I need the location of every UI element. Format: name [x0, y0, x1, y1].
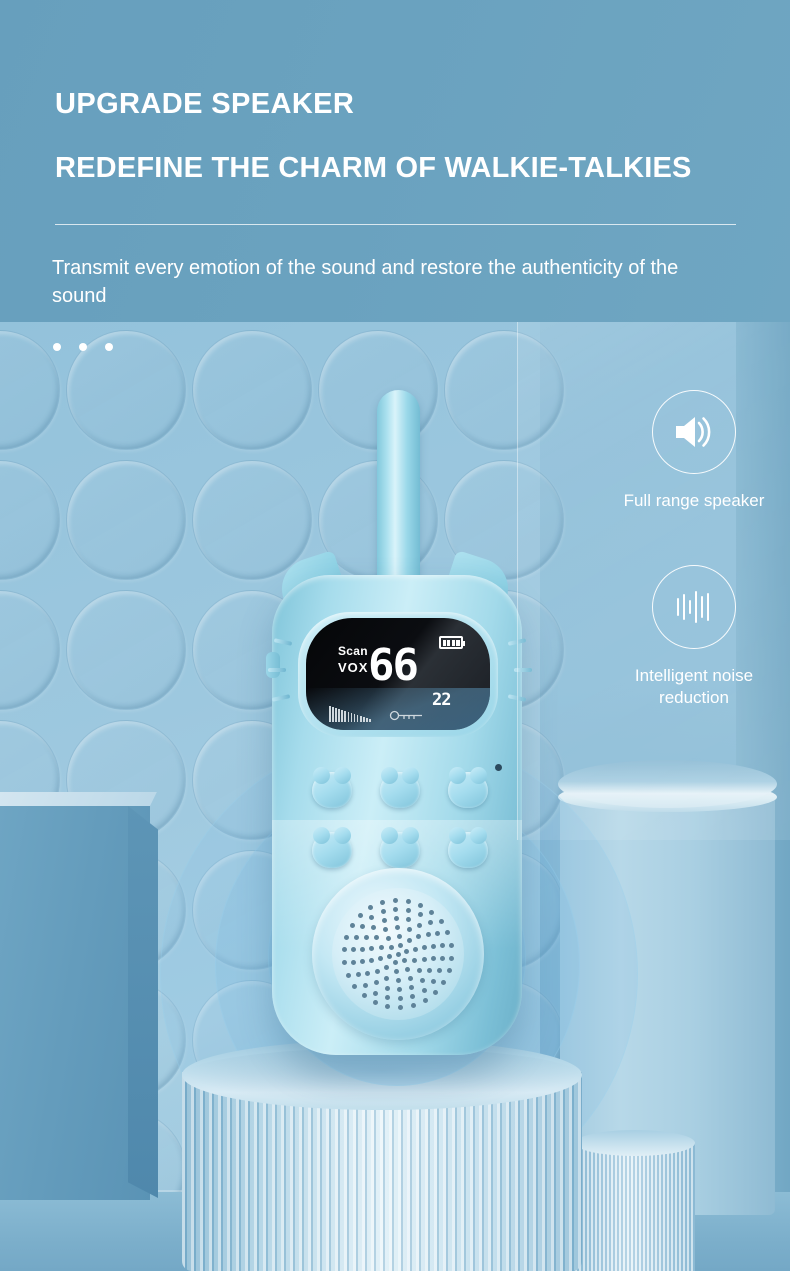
speaker-hole: [352, 984, 357, 989]
speaker-hole: [373, 1000, 378, 1005]
battery-icon: [439, 636, 463, 649]
signal-bar: [363, 717, 365, 722]
signal-bar: [354, 714, 356, 722]
page-title-secondary: REDEFINE THE CHARM OF WALKIE-TALKIES: [55, 152, 692, 185]
speaker-hole: [422, 957, 427, 962]
speaker-hole: [360, 947, 365, 952]
speaker-hole: [398, 1005, 403, 1010]
speaker-hole: [379, 945, 384, 950]
signal-bar: [335, 708, 337, 722]
speaker-hole: [427, 968, 432, 973]
speaker-hole: [385, 986, 390, 991]
speaker-hole: [385, 1004, 390, 1009]
speaker-hole: [383, 927, 388, 932]
speaker-hole: [395, 925, 400, 930]
header-divider: [55, 224, 736, 225]
speaker-hole: [420, 978, 425, 983]
speaker-hole: [407, 938, 412, 943]
feature-label: Intelligent noise reduction: [569, 665, 790, 709]
speaker-hole: [351, 947, 356, 952]
speaker-hole: [445, 930, 450, 935]
signal-bar: [341, 710, 343, 722]
speaker-hole: [393, 907, 398, 912]
decor-dots: [53, 343, 113, 351]
speaker-hole: [342, 947, 347, 952]
speaker-volume-icon: [672, 412, 716, 452]
speaker-hole: [378, 956, 383, 961]
battery-bar: [456, 640, 459, 646]
product-banner: Scan VOX 66 22: [0, 0, 790, 1271]
speaker-hole: [382, 918, 387, 923]
speaker-hole: [384, 976, 389, 981]
wall-circle: [0, 460, 60, 580]
speaker-hole: [380, 900, 385, 905]
speaker-hole: [431, 956, 436, 961]
speaker-hole: [396, 952, 401, 957]
speaker-hole: [428, 920, 433, 925]
speaker-hole: [433, 990, 438, 995]
speaker-hole: [447, 968, 452, 973]
speaker-hole: [402, 958, 407, 963]
speaker-hole: [396, 978, 401, 983]
speaker-hole: [384, 965, 389, 970]
speaker-hole: [373, 991, 378, 996]
speaker-hole: [351, 960, 356, 965]
speaker-hole: [418, 912, 423, 917]
speaker-hole: [437, 968, 442, 973]
lcd-vox-label: VOX: [338, 660, 368, 675]
speaker-hole: [369, 958, 374, 963]
speaker-hole: [449, 956, 454, 961]
speaker-hole: [439, 919, 444, 924]
speaker-hole: [407, 927, 412, 932]
signal-bar: [357, 715, 359, 722]
speaker-hole: [417, 968, 422, 973]
flower-button-2[interactable]: [380, 772, 420, 808]
speaker-hole: [369, 946, 374, 951]
small-pedestal-top: [575, 1130, 695, 1156]
speaker-hole: [440, 943, 445, 948]
button-row-top: [312, 772, 488, 808]
header-subtitle: Transmit every emotion of the sound and …: [52, 255, 692, 310]
page-title-primary: UPGRADE SPEAKER: [55, 88, 354, 121]
speaker-hole: [422, 988, 427, 993]
feature-icon-ring: [652, 390, 736, 474]
speaker-hole: [342, 960, 347, 965]
speaker-hole: [385, 995, 390, 1000]
speaker-hole: [381, 909, 386, 914]
speaker-hole: [358, 913, 363, 918]
button-row-bottom: [312, 832, 488, 868]
speaker-hole: [405, 967, 410, 972]
wall-circle: [66, 460, 186, 580]
flower-button-6[interactable]: [448, 832, 488, 868]
speaker-hole: [412, 958, 417, 963]
speaker-hole: [393, 898, 398, 903]
speaker-hole: [431, 979, 436, 984]
bezel-tick-left-2: [268, 668, 286, 672]
microphone-hole: [495, 764, 502, 771]
lcd-channel-value: 66: [368, 644, 417, 688]
speaker-hole: [441, 980, 446, 985]
signal-bar: [351, 713, 353, 722]
lcd-scan-label: Scan: [338, 644, 368, 658]
wall-circle: [66, 590, 186, 710]
wall-circle: [0, 590, 60, 710]
feature-noise-reduction: Intelligent noise reduction: [569, 565, 790, 709]
signal-bar: [360, 716, 362, 722]
speaker-hole: [368, 905, 373, 910]
feature-icon-ring: [652, 565, 736, 649]
speaker-hole: [397, 934, 402, 939]
speaker-hole: [365, 971, 370, 976]
speaker-hole: [360, 959, 365, 964]
speaker-hole: [411, 1003, 416, 1008]
feature-full-range-speaker: Full range speaker: [569, 390, 790, 512]
speaker-hole: [344, 935, 349, 940]
signal-bar: [369, 719, 371, 722]
speaker-hole: [397, 987, 402, 992]
battery-bar: [443, 640, 446, 646]
speaker-hole: [394, 969, 399, 974]
speaker-hole: [375, 969, 380, 974]
sound-waveform-icon: [672, 587, 716, 627]
speaker-hole: [386, 936, 391, 941]
speaker-hole: [371, 925, 376, 930]
speaker-hole: [362, 993, 367, 998]
small-pedestal-body: [575, 1143, 695, 1271]
speaker-hole: [416, 934, 421, 939]
speaker-hole: [398, 943, 403, 948]
speaker-hole: [374, 980, 379, 985]
speaker-hole: [408, 976, 413, 981]
speaker-hole: [363, 983, 368, 988]
walkie-talkie-product: Scan VOX 66 22: [250, 390, 550, 1090]
speaker-hole: [398, 996, 403, 1001]
decor-dot: [79, 343, 87, 351]
decor-block-left: [0, 800, 150, 1200]
wall-circle: [0, 330, 60, 450]
speaker-hole: [346, 973, 351, 978]
speaker-hole: [393, 960, 398, 965]
speaker-hole: [369, 915, 374, 920]
flower-button-5[interactable]: [380, 832, 420, 868]
signal-bar: [338, 709, 340, 722]
speaker-hole: [417, 923, 422, 928]
speaker-hole: [389, 945, 394, 950]
flower-button-1[interactable]: [312, 772, 352, 808]
speaker-holes: [334, 890, 462, 1018]
speaker-hole: [404, 949, 409, 954]
signal-bar: [366, 718, 368, 722]
speaker-hole: [435, 931, 440, 936]
flower-button-4[interactable]: [312, 832, 352, 868]
speaker-hole: [431, 944, 436, 949]
speaker-hole: [422, 945, 427, 950]
speaker-hole: [449, 943, 454, 948]
speaker-hole: [350, 923, 355, 928]
speaker-hole: [429, 910, 434, 915]
flower-button-3[interactable]: [448, 772, 488, 808]
decor-dot: [105, 343, 113, 351]
decor-block-left-side: [128, 806, 158, 1198]
speaker-hole: [440, 956, 445, 961]
speaker-hole: [394, 916, 399, 921]
speaker-hole: [423, 998, 428, 1003]
speaker-hole: [413, 947, 418, 952]
speaker-hole: [426, 932, 431, 937]
antenna: [377, 390, 420, 605]
signal-bar: [329, 706, 331, 722]
signal-bar: [348, 712, 350, 722]
speaker-hole: [356, 972, 361, 977]
speaker-hole: [406, 899, 411, 904]
header-band: UPGRADE SPEAKER REDEFINE THE CHARM OF WA…: [0, 0, 790, 322]
speaker-hole: [406, 917, 411, 922]
battery-bar: [452, 640, 455, 646]
signal-bar: [344, 711, 346, 722]
speaker-hole: [406, 908, 411, 913]
key-icon: [389, 710, 423, 721]
lcd-display: Scan VOX 66 22: [306, 618, 490, 730]
signal-bars-icon: [329, 706, 371, 722]
speaker-hole: [410, 994, 415, 999]
speaker-hole: [409, 985, 414, 990]
battery-bar: [447, 640, 450, 646]
speaker-hole: [418, 903, 423, 908]
decor-block-left-top: [0, 792, 157, 806]
signal-bar: [332, 707, 334, 722]
speaker-hole: [374, 935, 379, 940]
lcd-sub-value: 22: [432, 690, 450, 710]
decor-dot: [53, 343, 61, 351]
feature-label: Full range speaker: [569, 490, 790, 512]
speaker-hole: [387, 954, 392, 959]
side-button[interactable]: [266, 652, 280, 678]
speaker-hole: [364, 935, 369, 940]
speaker-hole: [354, 935, 359, 940]
speaker-hole: [360, 924, 365, 929]
